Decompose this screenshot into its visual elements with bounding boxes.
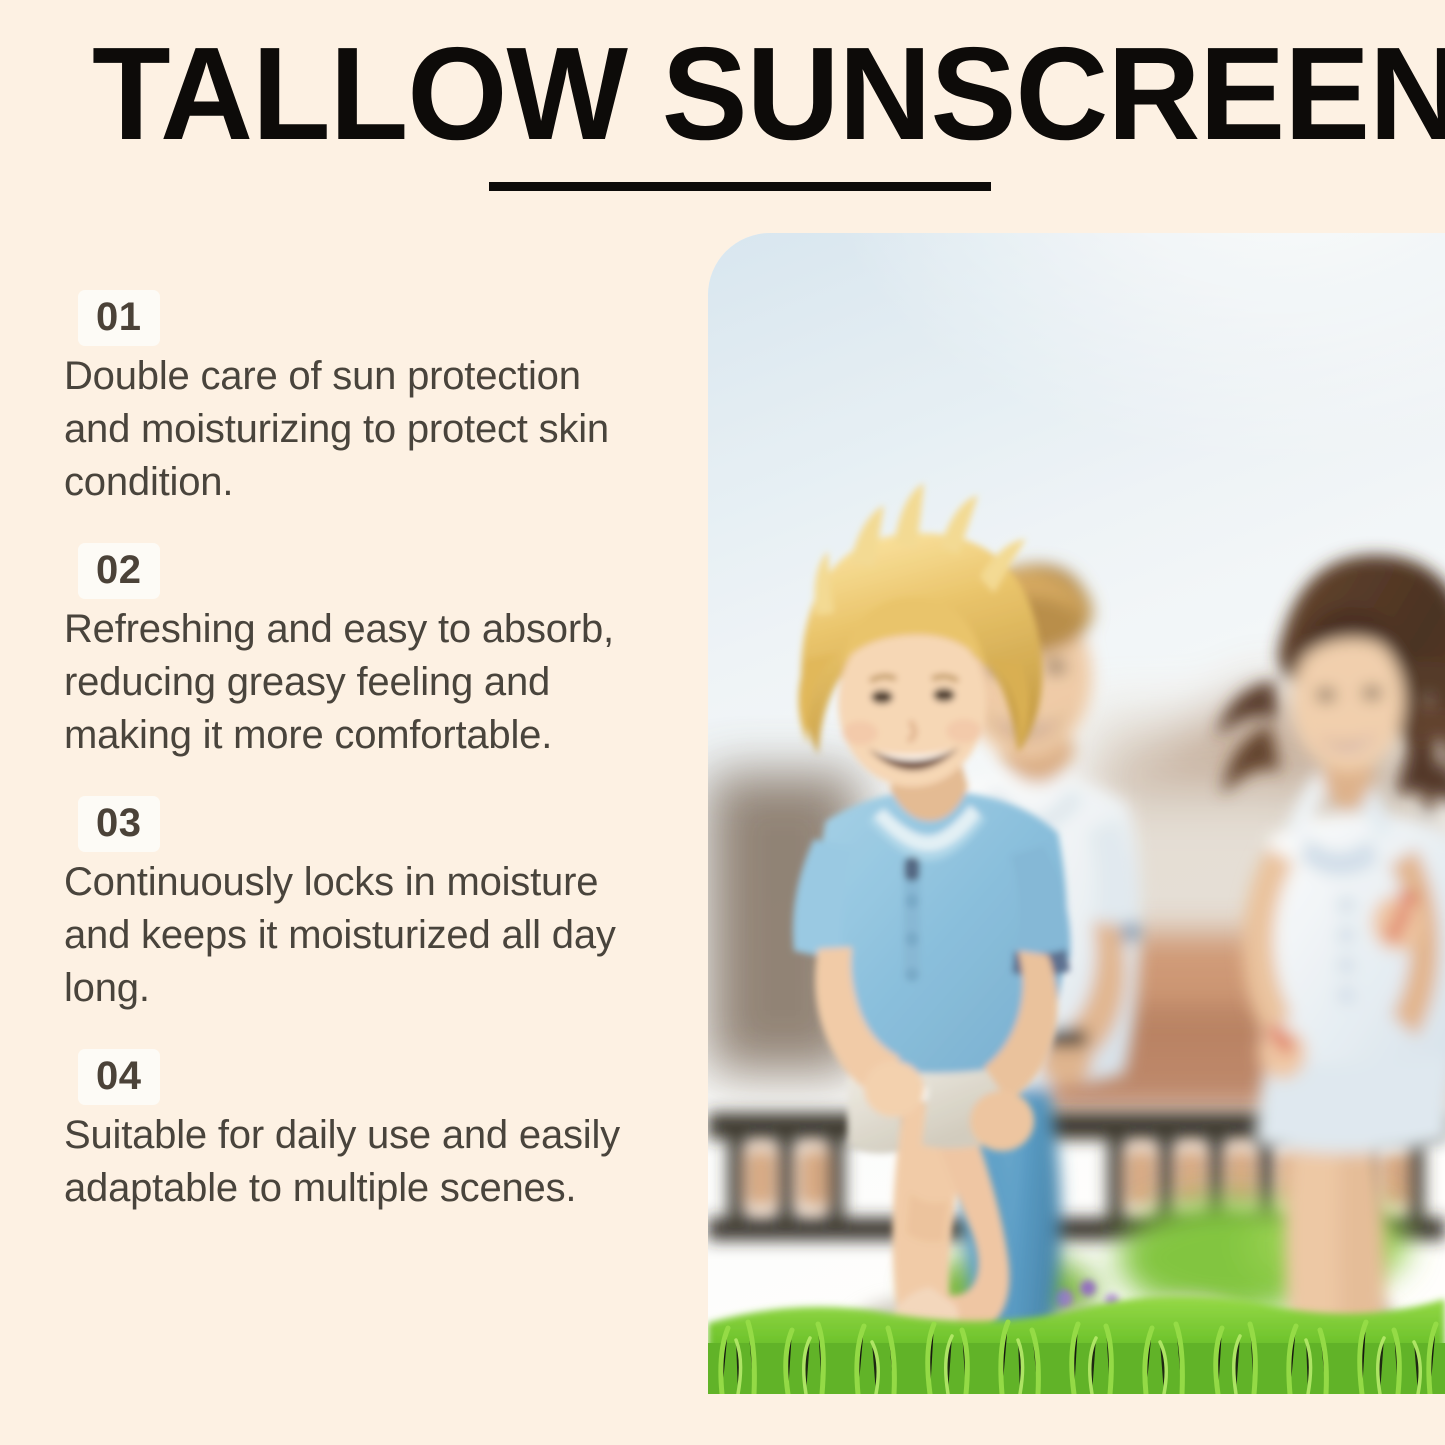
feature-description: Continuously locks in moisture and keeps…: [64, 856, 624, 1015]
sunlight-overlay: [708, 233, 1445, 1394]
feature-list: 01 Double care of sun protection and moi…: [64, 290, 664, 1215]
list-item: 03 Continuously locks in moisture and ke…: [64, 796, 664, 1015]
list-item: 02 Refreshing and easy to absorb, reduci…: [64, 543, 664, 762]
title-underline-divider: [489, 182, 991, 191]
photo-illustration: [708, 233, 1445, 1394]
feature-number-badge: 03: [78, 796, 160, 852]
feature-description: Suitable for daily use and easily adapta…: [64, 1109, 624, 1215]
list-item: 04 Suitable for daily use and easily ada…: [64, 1049, 664, 1215]
family-running-photo: [708, 233, 1445, 1394]
list-item: 01 Double care of sun protection and moi…: [64, 290, 664, 509]
feature-number-badge: 04: [78, 1049, 160, 1105]
feature-number-badge: 02: [78, 543, 160, 599]
feature-description: Refreshing and easy to absorb, reducing …: [64, 603, 624, 762]
header: TALLOW SUNSCREEN: [0, 0, 1445, 215]
feature-description: Double care of sun protection and moistu…: [64, 350, 624, 509]
page-title: TALLOW SUNSCREEN: [92, 28, 1360, 160]
feature-number-badge: 01: [78, 290, 160, 346]
poster-canvas: TALLOW SUNSCREEN 01 Double care of sun p…: [0, 0, 1445, 1445]
